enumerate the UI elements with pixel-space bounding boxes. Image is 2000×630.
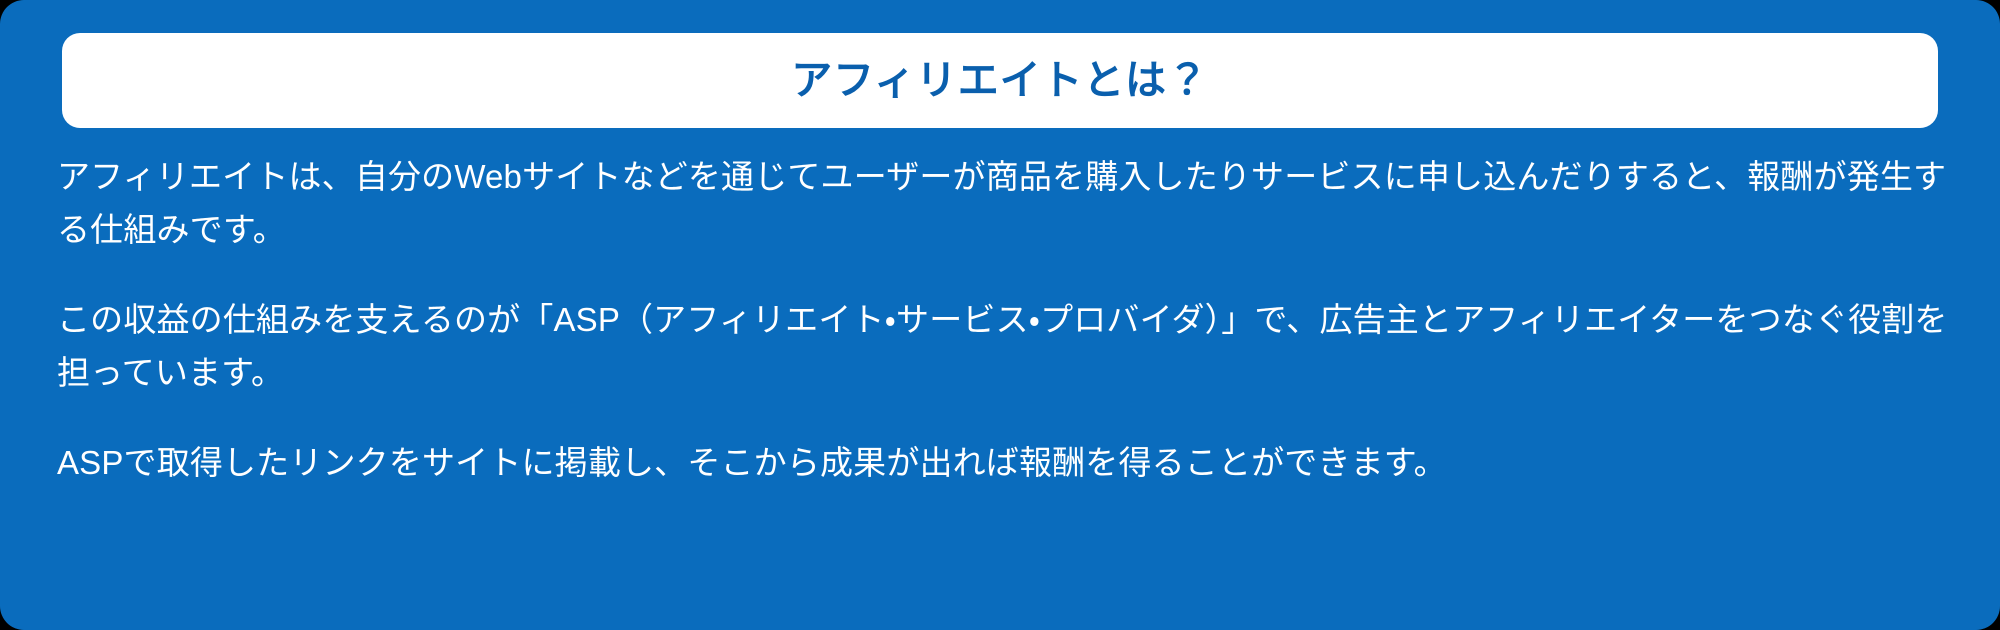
callout-body: アフィリエイトは、自分のWebサイトなどを通じてユーザーが商品を購入したりサービ…: [57, 150, 1957, 489]
body-paragraph: ASPで取得したリンクをサイトに掲載し、そこから成果が出れば報酬を得ることができ…: [57, 436, 1957, 489]
body-paragraph: アフィリエイトは、自分のWebサイトなどを通じてユーザーが商品を購入したりサービ…: [57, 150, 1957, 257]
page-title: アフィリエイトとは？: [791, 60, 1208, 101]
info-callout-panel: アフィリエイトとは？ アフィリエイトは、自分のWebサイトなどを通じてユーザーが…: [0, 0, 2000, 630]
callout-title-card: アフィリエイトとは？: [62, 33, 1938, 128]
body-paragraph: この収益の仕組みを支えるのが「ASP（アフィリエイト・サービス・プロバイダ）」で…: [57, 293, 1957, 400]
